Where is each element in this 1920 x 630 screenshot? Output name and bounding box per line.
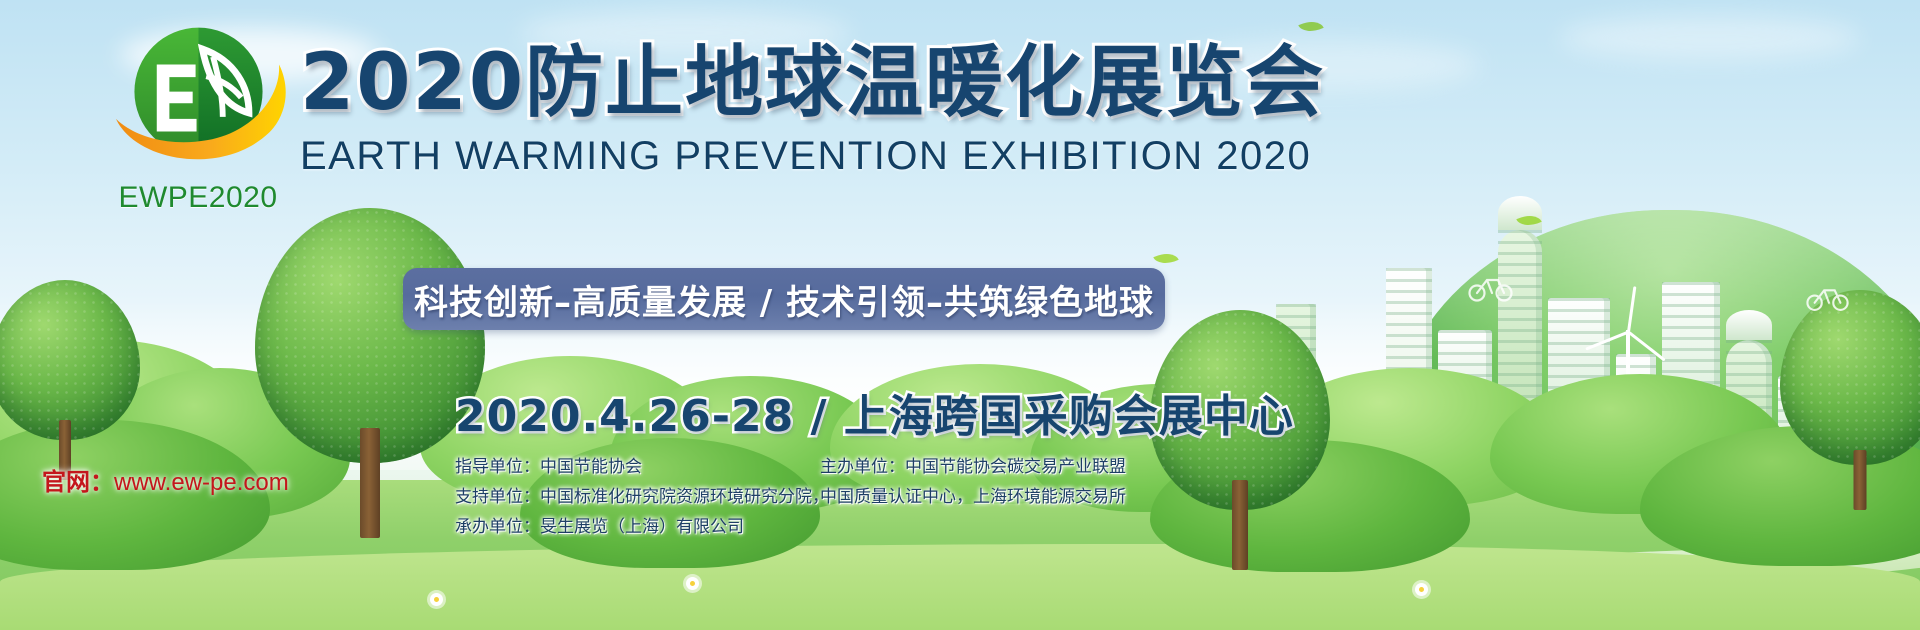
slogan-text: 科技创新–高质量发展 / 技术引领–共筑绿色地球: [414, 275, 1154, 324]
tree: [1780, 290, 1920, 510]
organizer-right: 中国质量认证中心，上海环境能源交易所: [820, 482, 1126, 512]
page-title: 2020防止地球温暖化展览会: [300, 44, 1310, 122]
ewpe-globe-leaf-logo-icon: [106, 14, 291, 179]
headline-block: 2020防止地球温暖化展览会 EARTH WARMING PREVENTION …: [300, 44, 1310, 176]
exhibition-banner: EWPE2020 2020防止地球温暖化展览会 EARTH WARMING PR…: [0, 0, 1920, 630]
organizer-row: 承办单位：旻生展览（上海）有限公司: [455, 512, 1515, 542]
organizers-block: 指导单位：中国节能协会 主办单位：中国节能协会碳交易产业联盟 支持单位：中国标准…: [455, 452, 1515, 542]
website-url[interactable]: www.ew-pe.com: [114, 469, 289, 496]
tower-dome: [1498, 196, 1542, 230]
organizer-row: 支持单位：中国标准化研究院资源环境研究分院， 中国质量认证中心，上海环境能源交易…: [455, 482, 1515, 512]
wind-turbine-blade: [1627, 286, 1636, 332]
flower-icon: [1415, 583, 1428, 596]
bicycle-icon: [1806, 282, 1850, 312]
organizer-row: 指导单位：中国节能协会 主办单位：中国节能协会碳交易产业联盟: [455, 452, 1515, 482]
logo-wordmark: EWPE2020: [62, 181, 334, 215]
leaf-icon: [1153, 248, 1178, 269]
logo[interactable]: EWPE2020: [62, 14, 334, 224]
page-subtitle: EARTH WARMING PREVENTION EXHIBITION 2020: [300, 136, 1310, 176]
bicycle-icon: [1468, 272, 1514, 302]
organizer-right: 主办单位：中国节能协会碳交易产业联盟: [820, 452, 1126, 482]
grass-foreground: [0, 544, 1920, 630]
organizer-left: 支持单位：中国标准化研究院资源环境研究分院，: [455, 487, 829, 506]
cloud-4: [1560, 16, 1860, 60]
tree: [0, 280, 140, 480]
leaf-icon: [1298, 16, 1323, 37]
slogan-bar: 科技创新–高质量发展 / 技术引领–共筑绿色地球: [403, 268, 1165, 330]
date-venue-line: 2020.4.26-28 / 上海跨国采购会展中心: [455, 380, 1294, 444]
website-line[interactable]: 官网：www.ew-pe.com: [42, 462, 289, 497]
tree: [255, 208, 485, 538]
tower-dome: [1726, 310, 1772, 340]
website-label: 官网：: [42, 468, 114, 496]
organizer-left: 指导单位：中国节能协会: [455, 457, 642, 476]
flower-icon: [686, 577, 699, 590]
organizer-left: 承办单位：旻生展览（上海）有限公司: [455, 517, 744, 536]
flower-icon: [430, 593, 443, 606]
